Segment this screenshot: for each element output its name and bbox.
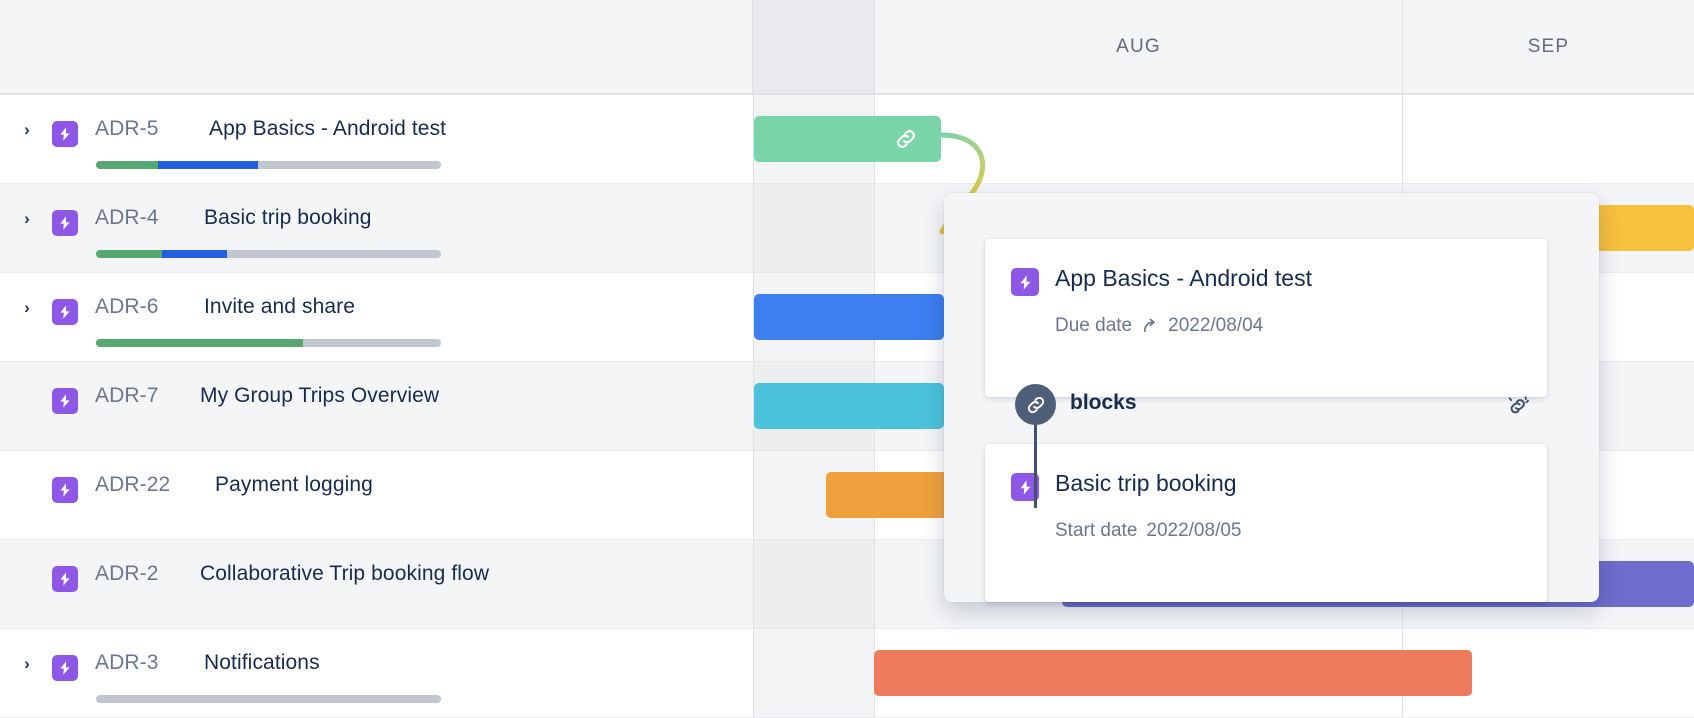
progress-segment-done: [96, 250, 162, 258]
progress-bar: [96, 250, 441, 258]
popup-target-date-label: Start date: [1055, 520, 1137, 542]
unlink-icon[interactable]: [1500, 388, 1536, 424]
jira-timeline-view: AUG SEP ›ADR-5App Basics - Android test›…: [0, 0, 1694, 718]
month-header-sep: SEP: [1403, 0, 1694, 93]
timeline-header: AUG SEP: [0, 0, 1694, 95]
popup-target-title: Basic trip booking: [1055, 470, 1237, 497]
popup-source-date-label: Due date: [1055, 315, 1132, 337]
story-bolt-icon: [52, 121, 78, 147]
timeline-bar-adr-5[interactable]: [754, 116, 941, 162]
popup-source-date: Due date 2022/08/04: [1055, 315, 1263, 337]
popup-source-issue-card[interactable]: App Basics - Android test Due date 2022/…: [985, 239, 1547, 397]
progress-segment-inprogress: [158, 161, 258, 169]
progress-bar: [96, 339, 441, 347]
story-bolt-icon: [52, 566, 78, 592]
chevron-right-icon[interactable]: ›: [18, 299, 36, 317]
month-label: AUG: [1116, 36, 1161, 58]
issue-row-adr-7[interactable]: ADR-7My Group Trips Overview: [0, 362, 753, 450]
popup-target-issue-card[interactable]: Basic trip booking Start date 2022/08/05: [985, 444, 1547, 602]
link-icon[interactable]: [893, 126, 919, 152]
story-bolt-icon: [52, 655, 78, 681]
arrow-turn-right-icon: [1141, 317, 1159, 335]
issue-summary[interactable]: Invite and share: [204, 295, 355, 319]
issue-summary[interactable]: Collaborative Trip booking flow: [200, 562, 489, 586]
popup-target-date-value: 2022/08/05: [1146, 520, 1241, 542]
issue-row-adr-4[interactable]: ›ADR-4Basic trip booking: [0, 184, 753, 272]
popup-source-title: App Basics - Android test: [1055, 265, 1312, 292]
progress-segment-done: [96, 161, 158, 169]
issue-key[interactable]: ADR-22: [95, 473, 170, 497]
story-bolt-icon: [52, 210, 78, 236]
progress-segment-inprogress: [162, 250, 228, 258]
timeline-bar-adr-22[interactable]: [826, 472, 956, 518]
popup-source-date-value: 2022/08/04: [1168, 315, 1263, 337]
timeline-bar-adr-4[interactable]: [1586, 205, 1694, 251]
chevron-right-icon[interactable]: ›: [18, 210, 36, 228]
issue-key[interactable]: ADR-6: [95, 295, 159, 319]
timeline-bar-adr-3[interactable]: [874, 650, 1472, 696]
story-bolt-icon: [52, 477, 78, 503]
issue-summary[interactable]: My Group Trips Overview: [200, 384, 439, 408]
popup-target-date: Start date 2022/08/05: [1055, 520, 1241, 542]
issue-summary[interactable]: Basic trip booking: [204, 206, 372, 230]
issue-list-header: [0, 0, 753, 93]
issue-row-adr-3[interactable]: ›ADR-3Notifications: [0, 629, 753, 717]
issue-key[interactable]: ADR-7: [95, 384, 159, 408]
issue-row-adr-5[interactable]: ›ADR-5App Basics - Android test: [0, 95, 753, 183]
progress-bar: [96, 161, 441, 169]
header-weekend-column: [753, 0, 875, 93]
progress-bar: [96, 695, 441, 703]
timeline-bar-adr-7[interactable]: [754, 383, 944, 429]
link-icon: [1015, 384, 1056, 425]
issue-key[interactable]: ADR-5: [95, 117, 159, 141]
story-bolt-icon: [1011, 268, 1039, 296]
issue-row-adr-6[interactable]: ›ADR-6Invite and share: [0, 273, 753, 361]
issue-summary[interactable]: Notifications: [204, 651, 320, 675]
relation-label: blocks: [1070, 391, 1137, 415]
progress-segment-done: [96, 339, 303, 347]
story-bolt-icon: [52, 299, 78, 325]
issue-summary[interactable]: App Basics - Android test: [209, 117, 446, 141]
month-header-aug: AUG: [875, 0, 1403, 93]
issue-row-adr-2[interactable]: ADR-2Collaborative Trip booking flow: [0, 540, 753, 628]
issue-row-adr-22[interactable]: ADR-22Payment logging: [0, 451, 753, 539]
month-label: SEP: [1528, 36, 1570, 58]
issue-key[interactable]: ADR-3: [95, 651, 159, 675]
timeline-bar-adr-6[interactable]: [754, 294, 944, 340]
issue-key[interactable]: ADR-2: [95, 562, 159, 586]
issue-key[interactable]: ADR-4: [95, 206, 159, 230]
story-bolt-icon: [52, 388, 78, 414]
chevron-right-icon[interactable]: ›: [18, 121, 36, 139]
chevron-right-icon[interactable]: ›: [18, 655, 36, 673]
issue-summary[interactable]: Payment logging: [215, 473, 373, 497]
